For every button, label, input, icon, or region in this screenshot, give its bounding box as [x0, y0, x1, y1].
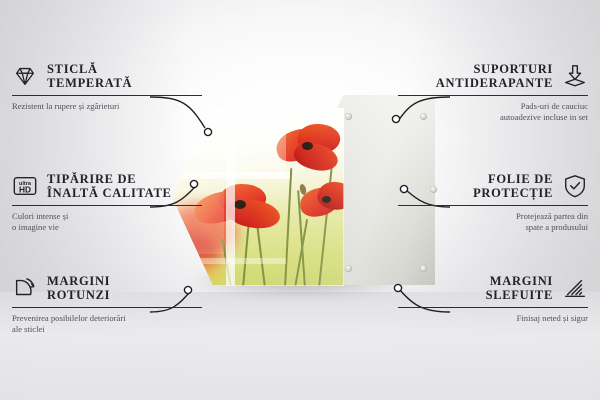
diamond-icon [12, 63, 38, 89]
feature-description: Pads-uri de cauciuc autoadezive incluse … [398, 101, 588, 122]
rubber-pad [345, 265, 352, 272]
feature-protective-foil: FOLIE DE PROTECȚIE Protejează partea din… [398, 172, 588, 232]
feature-title: MARGINI SLEFUITE [486, 274, 553, 302]
feature-title: STICLĂ TEMPERATĂ [47, 62, 132, 90]
feature-rule [12, 205, 202, 206]
feature-description: Protejează partea din spate a produsului [398, 211, 588, 232]
ultra-hd-badge-icon: ultra HD [12, 173, 38, 199]
feature-rule [12, 307, 202, 308]
feature-rule [12, 95, 202, 96]
feature-heading: SUPORTURI ANTIDERAPANTE [398, 62, 588, 90]
polished-edge-icon [562, 275, 588, 301]
anti-slip-pad-icon [562, 63, 588, 89]
feature-heading: STICLĂ TEMPERATĂ [12, 62, 202, 90]
feature-title: FOLIE DE PROTECȚIE [473, 172, 553, 200]
feature-heading: MARGINI SLEFUITE [398, 274, 588, 302]
feature-anti-slip-pads: SUPORTURI ANTIDERAPANTE Pads-uri de cauc… [398, 62, 588, 122]
feature-rule [398, 205, 588, 206]
svg-text:HD: HD [19, 185, 31, 195]
feature-rule [398, 307, 588, 308]
rounded-corner-icon [12, 275, 38, 301]
rubber-pad [345, 113, 352, 120]
feature-rounded-edges: MARGINI ROTUNZI Prevenirea posibilelor d… [12, 274, 202, 334]
feature-description: Rezistent la rupere și zgârieturi [12, 101, 202, 112]
feature-description: Culori intense și o imagine vie [12, 211, 202, 232]
feature-heading: FOLIE DE PROTECȚIE [398, 172, 588, 200]
feature-tempered-glass: STICLĂ TEMPERATĂ Rezistent la rupere și … [12, 62, 202, 112]
feature-rule [398, 95, 588, 96]
feature-description: Finisaj neted și sigur [398, 313, 588, 324]
feature-polished-edges: MARGINI SLEFUITE Finisaj neted și sigur [398, 274, 588, 324]
feature-description: Prevenirea posibilelor deteriorări ale s… [12, 313, 202, 334]
feature-title: TIPĂRIRE DE ÎNALTĂ CALITATE [47, 172, 172, 200]
shield-check-icon [562, 173, 588, 199]
feature-title: SUPORTURI ANTIDERAPANTE [436, 62, 553, 90]
feature-heading: MARGINI ROTUNZI [12, 274, 202, 302]
feature-heading: ultra HD TIPĂRIRE DE ÎNALTĂ CALITATE [12, 172, 202, 200]
product-infographic: STICLĂ TEMPERATĂ Rezistent la rupere și … [0, 0, 600, 400]
feature-title: MARGINI ROTUNZI [47, 274, 110, 302]
rubber-pad [420, 265, 427, 272]
feature-print-quality: ultra HD TIPĂRIRE DE ÎNALTĂ CALITATE Cul… [12, 172, 202, 232]
